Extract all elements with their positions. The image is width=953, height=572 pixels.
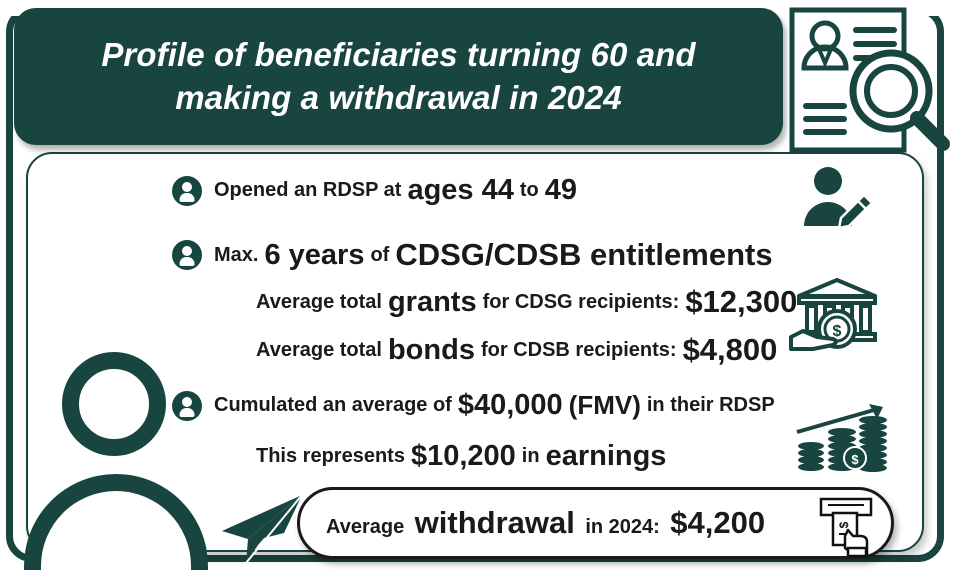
person-bullet-icon <box>172 240 202 270</box>
row-bonds-text-2: for CDSB recipients: <box>481 339 677 362</box>
row-bonds: Average total bonds for CDSB recipients:… <box>256 332 777 368</box>
atm-cash-withdrawal-icon: $ <box>815 496 877 558</box>
growing-coin-stacks-arrow-icon: $ <box>795 402 889 472</box>
row-grants-text-1: Average total <box>256 291 382 314</box>
row-entitlements-text-2: of <box>370 244 389 267</box>
row-entitlements-label: CDSG/CDSB entitlements <box>395 237 772 273</box>
row-age-text-1: Opened an RDSP at <box>214 179 401 202</box>
withdrawal-keyword: withdrawal <box>415 505 575 540</box>
bank-hand-coin-icon: $ <box>789 275 881 353</box>
row-entitlements: Max. 6 years of CDSG/CDSB entitlements <box>172 237 773 273</box>
row-bonds-amount: $4,800 <box>683 332 778 368</box>
row-age-value-2: 49 <box>545 174 577 207</box>
withdrawal-year: in 2024: <box>585 516 659 538</box>
row-earnings-amount: $10,200 <box>411 440 516 473</box>
person-with-pencil-icon <box>798 166 874 228</box>
row-bonds-keyword: bonds <box>388 334 475 367</box>
row-grants: Average total grants for CDSG recipients… <box>256 284 797 320</box>
row-earnings: This represents $10,200 in earnings <box>256 440 666 473</box>
row-grants-keyword: grants <box>388 286 477 319</box>
large-person-head <box>62 352 166 456</box>
large-person-body <box>24 474 208 570</box>
row-entitlements-value: 6 years <box>264 239 364 272</box>
infographic-root: Profile of beneficiaries turning 60 and … <box>0 0 953 572</box>
row-bonds-text-1: Average total <box>256 339 382 362</box>
withdrawal-text-1: Average <box>326 516 404 538</box>
row-grants-text-2: for CDSG recipients: <box>483 291 680 314</box>
large-person-outline-icon <box>22 352 212 567</box>
svg-text:$: $ <box>837 521 851 528</box>
row-earnings-text-2: in <box>522 445 540 468</box>
row-fmv-amount: $40,000 <box>458 389 563 422</box>
row-age-value-1: ages 44 <box>407 174 513 207</box>
row-age: Opened an RDSP at ages 44 to 49 <box>172 174 577 207</box>
profile-document-magnifier-icon <box>788 6 900 149</box>
row-fmv-text-2: in their RDSP <box>647 394 775 417</box>
row-grants-amount: $12,300 <box>685 284 797 320</box>
row-earnings-keyword: earnings <box>546 440 667 473</box>
withdrawal-amount: $4,200 <box>670 505 765 540</box>
row-entitlements-text-1: Max. <box>214 244 258 267</box>
row-age-text-2: to <box>520 179 539 202</box>
row-fmv: Cumulated an average of $40,000 (FMV) in… <box>172 389 775 422</box>
row-fmv-text-1: Cumulated an average of <box>214 394 452 417</box>
svg-text:$: $ <box>851 452 859 467</box>
person-bullet-icon <box>172 176 202 206</box>
page-title: Profile of beneficiaries turning 60 and … <box>14 34 783 118</box>
row-fmv-abbr: (FMV) <box>569 390 641 421</box>
row-earnings-text-1: This represents <box>256 445 405 468</box>
average-withdrawal-callout: Average withdrawal in 2024: $4,200 $ <box>297 487 894 559</box>
withdrawal-text: Average withdrawal in 2024: $4,200 <box>300 505 765 541</box>
header-banner: Profile of beneficiaries turning 60 and … <box>14 8 783 145</box>
